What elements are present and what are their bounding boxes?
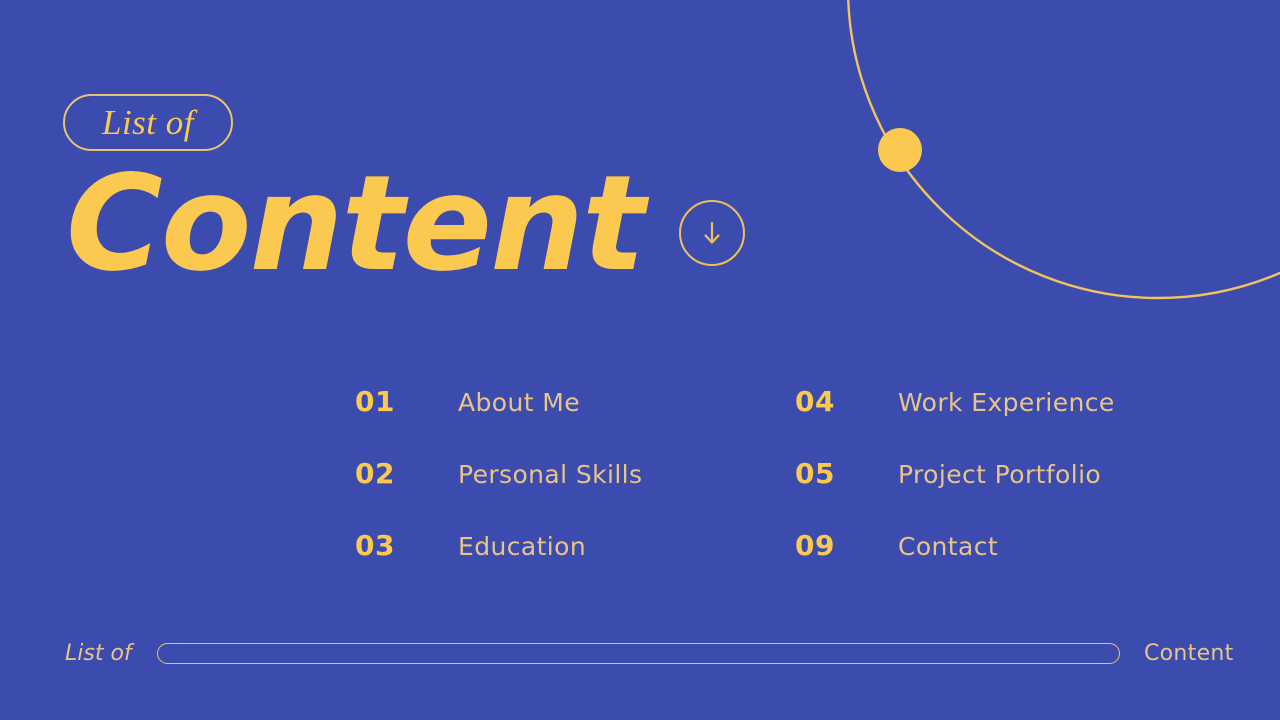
toc-number: 03 — [355, 529, 458, 562]
toc-label: Project Portfolio — [898, 460, 1101, 489]
footer-progress-bar — [157, 643, 1120, 664]
eyebrow-label: List of — [102, 105, 194, 140]
toc-number: 02 — [355, 457, 458, 490]
toc-label: Personal Skills — [458, 460, 642, 489]
list-item[interactable]: 04 Work Experience — [795, 385, 1145, 418]
list-item[interactable]: 03 Education — [355, 529, 795, 562]
title-row: Content — [66, 158, 745, 290]
eyebrow-pill: List of — [63, 94, 233, 151]
page-title: Content — [66, 158, 643, 290]
arrow-down-glyph — [697, 218, 727, 248]
list-item[interactable]: 01 About Me — [355, 385, 795, 418]
toc-number: 05 — [795, 457, 898, 490]
toc-label: Education — [458, 532, 586, 561]
toc-label: About Me — [458, 388, 580, 417]
toc-label: Work Experience — [898, 388, 1115, 417]
list-item[interactable]: 05 Project Portfolio — [795, 457, 1145, 490]
toc-number: 01 — [355, 385, 458, 418]
decorative-dot — [878, 128, 922, 172]
toc-number: 04 — [795, 385, 898, 418]
footer-left-label: List of — [65, 641, 157, 666]
arrow-down-circle-icon[interactable] — [679, 200, 745, 266]
footer: List of Content — [0, 633, 1280, 673]
decorative-circle-outline — [848, 0, 1280, 298]
toc-label: Contact — [898, 532, 998, 561]
toc-number: 09 — [795, 529, 898, 562]
list-item[interactable]: 02 Personal Skills — [355, 457, 795, 490]
footer-right-label: Content — [1144, 641, 1234, 666]
slide-canvas: List of Content 01 About Me 04 Work Expe… — [0, 0, 1280, 720]
table-of-contents: 01 About Me 04 Work Experience 02 Person… — [355, 365, 1145, 581]
list-item[interactable]: 09 Contact — [795, 529, 1145, 562]
